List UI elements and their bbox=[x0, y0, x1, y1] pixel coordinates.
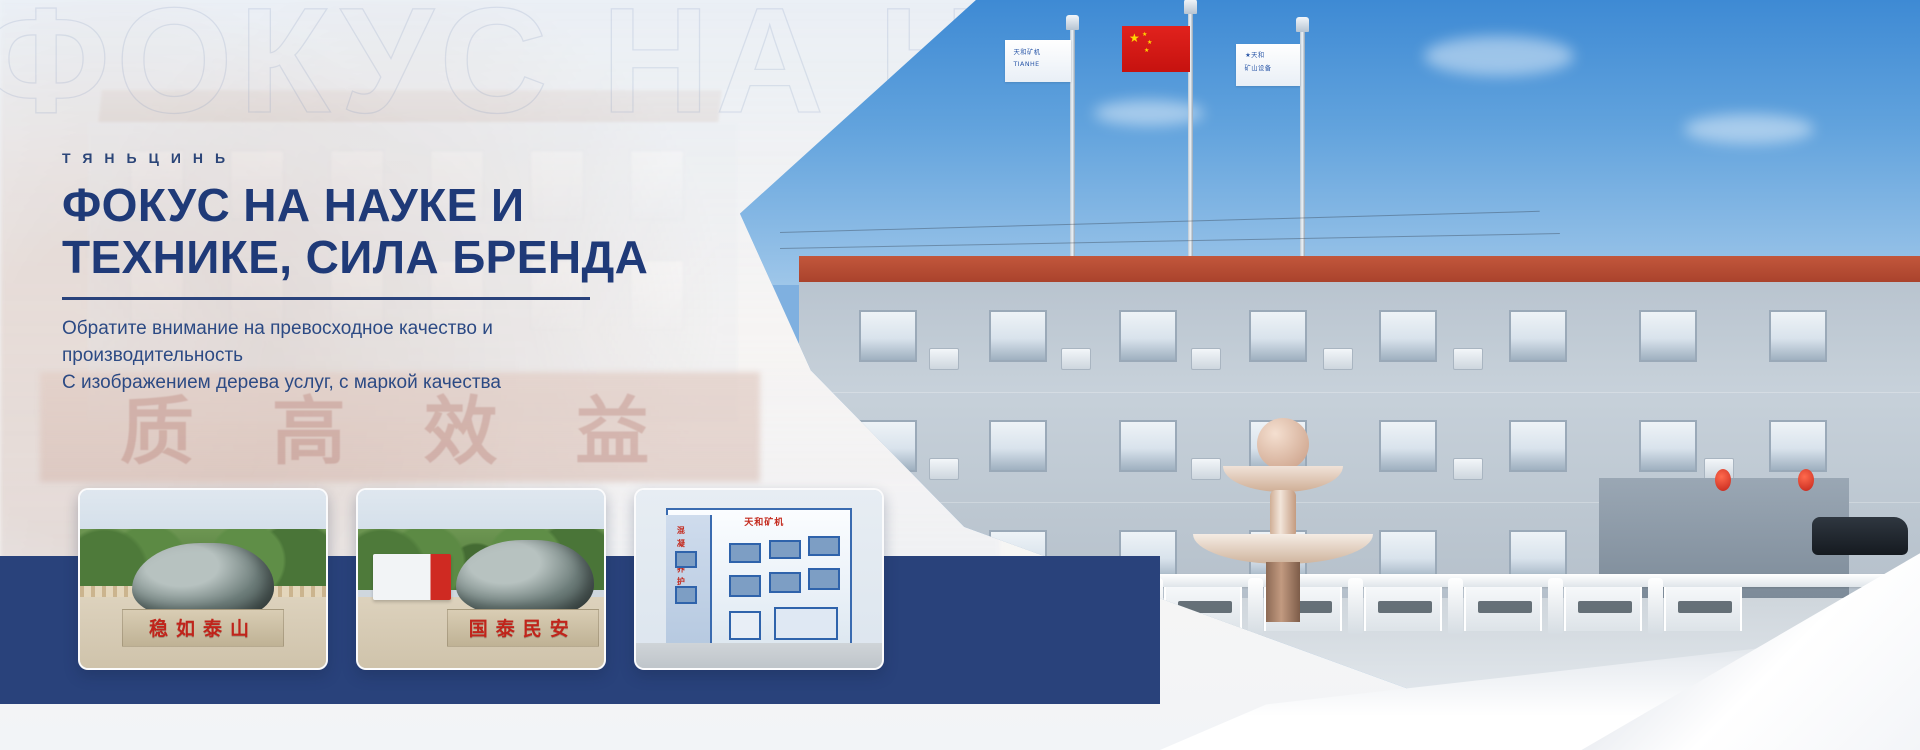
subtitle-text: Обратите внимание на превосходное качест… bbox=[62, 316, 822, 397]
air-conditioner-unit bbox=[1453, 348, 1483, 370]
lantern-icon bbox=[1798, 469, 1814, 491]
rock-monument bbox=[132, 543, 275, 618]
air-conditioner-unit bbox=[1453, 458, 1483, 480]
monument-caption: 稳如泰山 bbox=[149, 614, 257, 641]
flag-white-right: ★天和 矿山设备 bbox=[1236, 44, 1300, 86]
stone-fountain bbox=[1188, 418, 1378, 648]
thumbnail-gallery: 稳如泰山 国泰民安 混 凝 土 养 护 剂 天和矿机 bbox=[78, 488, 884, 670]
thumbnail-monument-1[interactable]: 稳如泰山 bbox=[78, 488, 328, 670]
thumbnail-monument-2[interactable]: 国泰民安 bbox=[356, 488, 606, 670]
hero-banner: 质 高 效 益 ФОКУС НА НАУКЕ 天和矿机 TIANHE ★ ★ bbox=[0, 0, 1920, 750]
thumbnail-factory-building[interactable]: 混 凝 土 养 护 剂 天和矿机 bbox=[634, 488, 884, 670]
eyebrow-text: ТЯНЬЦИНЬ bbox=[62, 150, 822, 166]
hero-copy: ТЯНЬЦИНЬ ФОКУС НА НАУКЕ И ТЕХНИКЕ, СИЛА … bbox=[62, 150, 822, 397]
monument-caption: 国泰民安 bbox=[469, 614, 577, 641]
building-roof bbox=[799, 256, 1920, 284]
monument-base: 国泰民安 bbox=[447, 609, 600, 646]
factory-side-wall bbox=[666, 515, 713, 647]
flag-china: ★ ★ ★ ★ bbox=[1122, 26, 1190, 72]
factory-sign-text: 天和矿机 bbox=[744, 515, 784, 528]
monument-base: 稳如泰山 bbox=[122, 609, 284, 646]
page-title: ФОКУС НА НАУКЕ И ТЕХНИКЕ, СИЛА БРЕНДА bbox=[62, 180, 822, 283]
air-conditioner-unit bbox=[1061, 348, 1091, 370]
air-conditioner-unit bbox=[929, 348, 959, 370]
air-conditioner-unit bbox=[1323, 348, 1353, 370]
title-underline bbox=[62, 297, 590, 300]
parked-car bbox=[1812, 517, 1908, 555]
air-conditioner-unit bbox=[1191, 348, 1221, 370]
air-conditioner-unit bbox=[929, 458, 959, 480]
flag-white-left: 天和矿机 TIANHE bbox=[1005, 40, 1071, 82]
truck bbox=[373, 554, 452, 600]
rock-monument bbox=[456, 540, 594, 615]
